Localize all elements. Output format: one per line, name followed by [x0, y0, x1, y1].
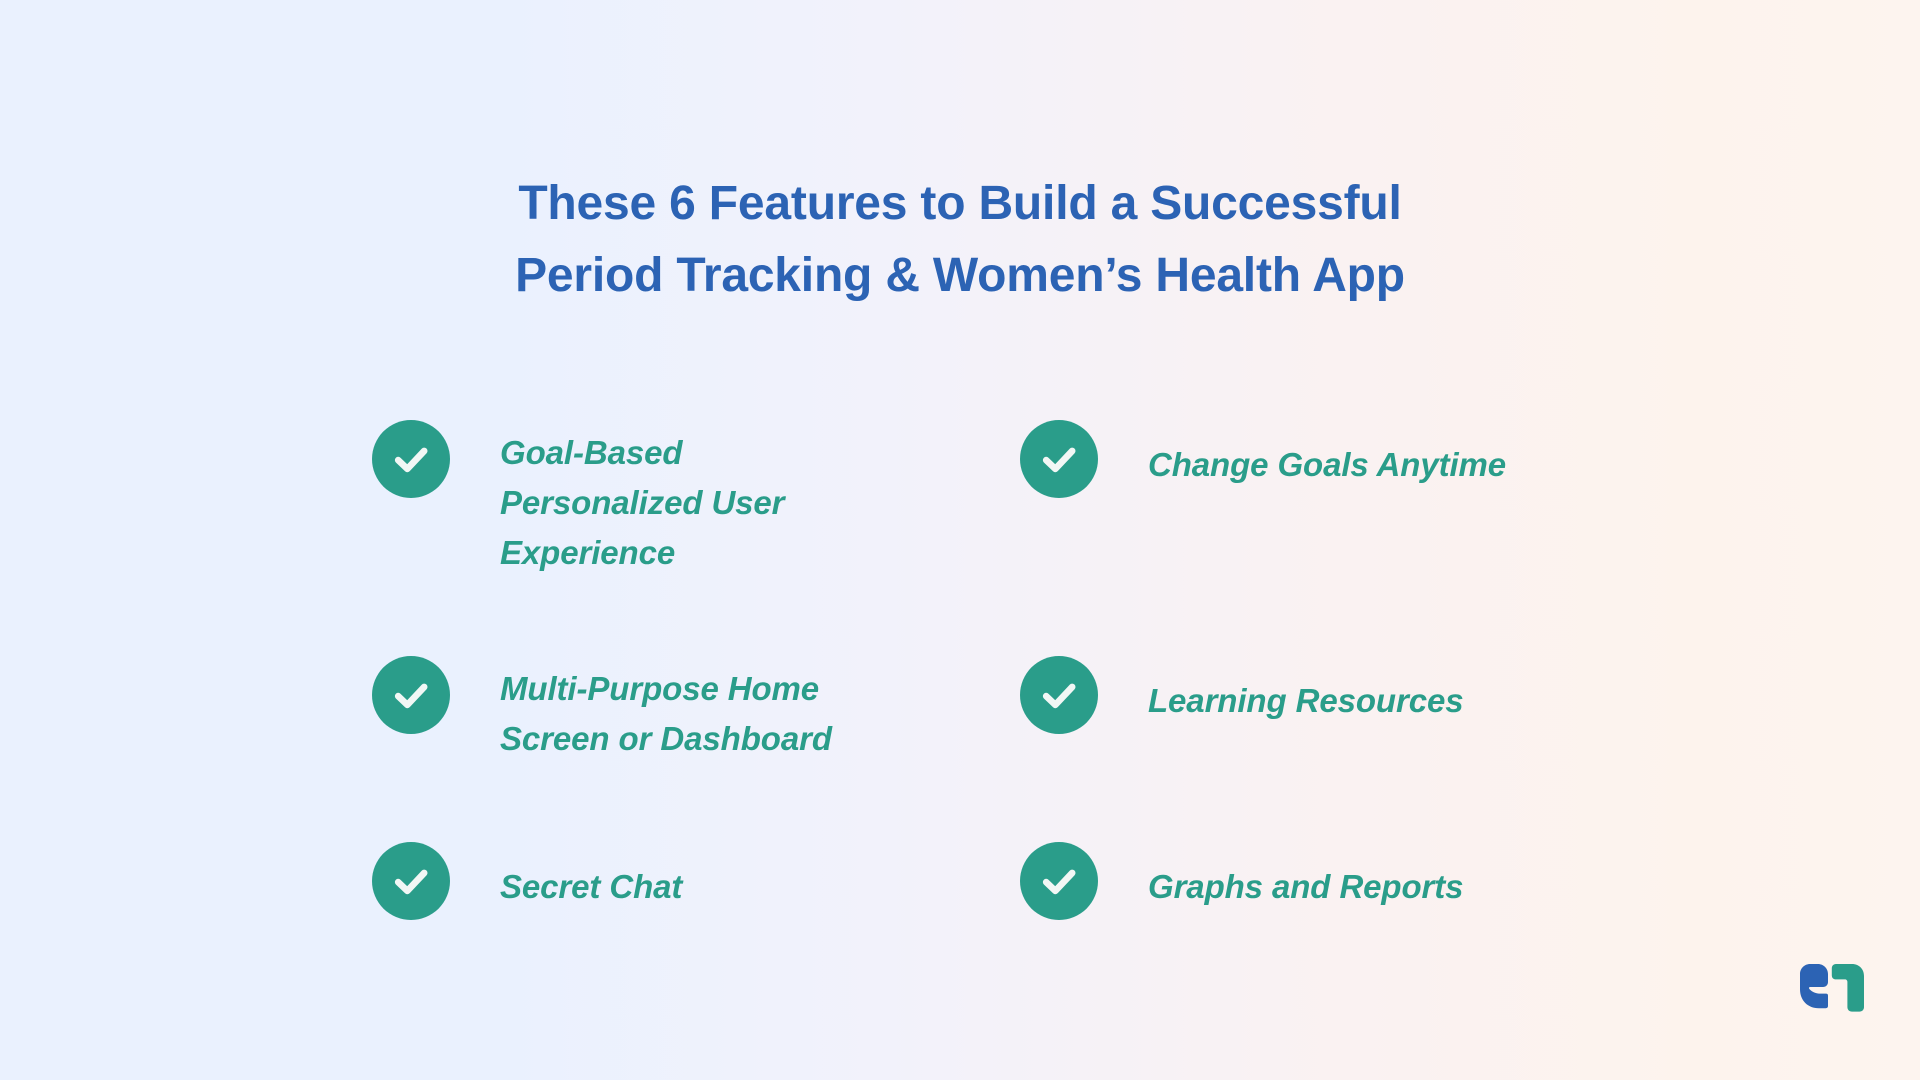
check-circle-icon [372, 842, 450, 920]
feature-label: Goal-Based Personalized User Experience [500, 418, 892, 578]
feature-item: Multi-Purpose Home Screen or Dashboard [372, 654, 892, 764]
check-circle-icon [1020, 420, 1098, 498]
feature-label: Secret Chat [500, 840, 682, 912]
check-circle-icon [1020, 656, 1098, 734]
check-circle-icon [372, 420, 450, 498]
title-line-2: Period Tracking & Women’s Health App [0, 240, 1920, 312]
title-line-1: These 6 Features to Build a Successful [0, 168, 1920, 240]
feature-label: Multi-Purpose Home Screen or Dashboard [500, 654, 892, 764]
check-circle-icon [372, 656, 450, 734]
feature-item: Learning Resources [1020, 654, 1540, 764]
feature-label: Change Goals Anytime [1148, 418, 1506, 490]
slide-root: These 6 Features to Build a Successful P… [0, 0, 1920, 1080]
feature-item: Graphs and Reports [1020, 840, 1540, 932]
feature-list: Goal-Based Personalized User Experience … [372, 418, 1612, 932]
feature-label: Learning Resources [1148, 654, 1463, 726]
page-title: These 6 Features to Build a Successful P… [0, 168, 1920, 312]
check-circle-icon [1020, 842, 1098, 920]
feature-label: Graphs and Reports [1148, 840, 1463, 912]
ea-logo [1796, 960, 1868, 1022]
feature-item: Change Goals Anytime [1020, 418, 1540, 578]
feature-item: Secret Chat [372, 840, 892, 932]
feature-item: Goal-Based Personalized User Experience [372, 418, 892, 578]
